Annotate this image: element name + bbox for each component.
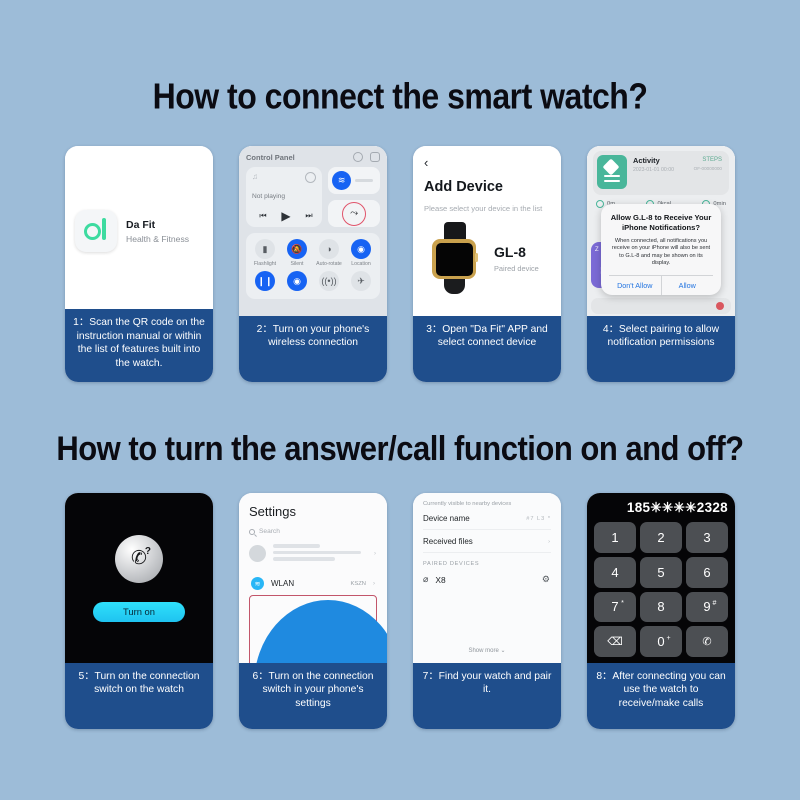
search-placeholder: Search xyxy=(259,528,280,535)
allow-button[interactable]: Allow xyxy=(662,276,714,295)
paired-device-row[interactable]: ⌀ X8 ⚙ xyxy=(423,570,551,589)
toggle-hotspot[interactable]: ((•)) xyxy=(314,271,344,293)
dont-allow-button[interactable]: Don't Allow xyxy=(609,276,662,295)
activity-icon xyxy=(597,155,627,189)
page-title-answer-call: How to turn the answer/call function on … xyxy=(0,429,800,469)
dafit-logo-icon xyxy=(75,210,117,252)
key-6[interactable]: 6 xyxy=(686,557,728,588)
add-device-title: Add Device xyxy=(424,179,550,195)
media-player-tile[interactable]: ♫ Not playing ⏮ ▶ ⏭ xyxy=(246,167,322,227)
device-name: GL-8 xyxy=(494,244,539,260)
paired-devices-header: PAIRED DEVICES xyxy=(423,561,551,567)
screenshot-bluetooth-list: Currently visible to nearby devices Devi… xyxy=(413,493,561,663)
step-card-5: ✆? Turn on 5：Turn on the connection swit… xyxy=(65,493,213,729)
step-card-1: Da Fit Health & Fitness 1：Scan the QR co… xyxy=(65,146,213,382)
toggle-eyecare[interactable]: ◉ xyxy=(282,271,312,293)
row-label: Device name xyxy=(423,514,470,523)
turn-on-button[interactable]: Turn on xyxy=(93,602,185,622)
chevron-right-icon: › xyxy=(548,539,551,545)
key-2[interactable]: 2 xyxy=(640,522,682,553)
step-caption-2: 2：Turn on your phone's wireless connecti… xyxy=(239,316,387,382)
search-input[interactable]: Search xyxy=(249,528,377,535)
key-3[interactable]: 3 xyxy=(686,522,728,553)
settings-row-wireless[interactable]: ✦ wireless On › xyxy=(249,595,377,664)
row-value: #7 L3 * xyxy=(526,516,551,522)
key-1[interactable]: 1 xyxy=(594,522,636,553)
step-card-6: Settings Search › ≋ WLAN KS xyxy=(239,493,387,729)
key-0[interactable]: 0+ xyxy=(640,626,682,657)
bt-row-received-files[interactable]: Received files › xyxy=(423,530,551,553)
bt-row-device-name[interactable]: Device name #7 L3 * xyxy=(423,507,551,530)
settings-gear-icon[interactable] xyxy=(353,152,363,162)
toggle-silent[interactable]: 🔕 Silent xyxy=(282,239,312,267)
step-card-7: Currently visible to nearby devices Devi… xyxy=(413,493,561,729)
toggle-sound[interactable]: ❙❙ xyxy=(250,271,280,293)
key-7[interactable]: 7* xyxy=(594,592,636,623)
activity-card: Activity 2023-01-01 00:00 STEPS OF-00000… xyxy=(593,151,729,195)
permission-dialog: Allow G.L-8 to Receive Your iPhone Notif… xyxy=(601,204,721,295)
screenshot-watch-enable: ✆? Turn on xyxy=(65,493,213,663)
screenshot-control-panel: Control Panel ♫ Not playing ⏮ xyxy=(239,146,387,316)
play-icon[interactable]: ▶ xyxy=(281,209,290,223)
avatar xyxy=(249,545,266,562)
autorotate-icon: ◑ xyxy=(319,239,339,259)
dialog-title: Allow G.L-8 to Receive Your iPhone Notif… xyxy=(609,213,713,233)
eye-icon: ◉ xyxy=(287,271,307,291)
key-8[interactable]: 8 xyxy=(640,592,682,623)
media-status: Not playing xyxy=(252,193,285,200)
call-key[interactable]: ✆ xyxy=(686,626,728,657)
steps-row-connect: Da Fit Health & Fitness 1：Scan the QR co… xyxy=(0,146,800,382)
show-more-button[interactable]: Show more ⌄ xyxy=(423,647,551,663)
wifi-tile[interactable]: ≋ xyxy=(328,167,380,194)
add-device-subtitle: Please select your device in the list xyxy=(424,204,550,213)
quick-toggles: ▮ Flashlight 🔕 Silent ◑ Auto-rotate xyxy=(246,233,380,299)
screenshot-ios-permission: Activity 2023-01-01 00:00 STEPS OF-00000… xyxy=(587,146,735,316)
flashlight-icon: ▮ xyxy=(255,239,275,259)
row-label: Received files xyxy=(423,537,473,546)
steps-row-call: ✆? Turn on 5：Turn on the connection swit… xyxy=(0,493,800,729)
dialed-number: 185✳✳✳✳2328 xyxy=(594,500,728,516)
app-category: Health & Fitness xyxy=(126,234,189,244)
step-caption-3: 3：Open "Da Fit" APP and select connect d… xyxy=(413,316,561,382)
step-caption-1: 1：Scan the QR code on the instruction ma… xyxy=(65,309,213,382)
screenshot-android-settings: Settings Search › ≋ WLAN KS xyxy=(239,493,387,663)
step-card-8: 185✳✳✳✳2328 1 2 3 4 5 6 7* 8 9# ⌫ 0+ ✆ xyxy=(587,493,735,729)
steps-label: STEPS xyxy=(702,157,722,163)
gear-icon[interactable]: ⚙ xyxy=(542,574,550,585)
step-card-2: Control Panel ♫ Not playing ⏮ xyxy=(239,146,387,382)
bluetooth-icon: ✦ xyxy=(254,600,387,663)
back-arrow-icon[interactable]: ‹ xyxy=(424,156,550,169)
highlight-ring xyxy=(342,202,366,226)
tutorial-page: How to connect the smart watch? Da Fit H… xyxy=(0,0,800,800)
wifi-icon: ≋ xyxy=(251,577,264,590)
settings-title: Settings xyxy=(249,504,377,519)
prev-icon[interactable]: ⏮ xyxy=(259,211,266,221)
toggle-airplane[interactable]: ✈ xyxy=(346,271,376,293)
step-card-4: Activity 2023-01-01 00:00 STEPS OF-00000… xyxy=(587,146,735,382)
device-list-item[interactable]: GL-8 Paired device xyxy=(424,222,550,294)
control-panel-title: Control Panel xyxy=(246,153,295,162)
key-4[interactable]: 4 xyxy=(594,557,636,588)
step-caption-4: 4：Select pairing to allow notification p… xyxy=(587,316,735,382)
settings-row-wlan[interactable]: ≋ WLAN KSZN › xyxy=(249,573,377,595)
wifi-icon: ≋ xyxy=(332,171,351,190)
screenshot-watch-dialer: 185✳✳✳✳2328 1 2 3 4 5 6 7* 8 9# ⌫ 0+ ✆ xyxy=(587,493,735,663)
equalizer-icon: ❙❙ xyxy=(255,271,275,291)
dial-keypad: 1 2 3 4 5 6 7* 8 9# ⌫ 0+ ✆ xyxy=(594,522,728,657)
device-status: Paired device xyxy=(494,264,539,273)
screenshot-dafit-app: Da Fit Health & Fitness xyxy=(65,146,213,309)
phone-question-icon: ✆? xyxy=(115,535,163,583)
bell-off-icon: 🔕 xyxy=(287,239,307,259)
cast-icon[interactable] xyxy=(305,172,316,183)
smartwatch-image xyxy=(424,222,486,294)
location-pin-icon: ◉ xyxy=(351,239,371,259)
next-icon[interactable]: ⏭ xyxy=(305,211,312,221)
account-blurred-text xyxy=(273,544,377,564)
bluetooth-share-tile[interactable]: ⤳ xyxy=(328,200,380,227)
app-name: Da Fit xyxy=(126,219,189,231)
device-name: X8 xyxy=(435,575,445,585)
airplane-icon: ✈ xyxy=(351,271,371,291)
toggle-location[interactable]: ◉ Location xyxy=(346,239,376,267)
row-label: WLAN xyxy=(271,579,294,588)
dialog-body: When connected, all notifications you re… xyxy=(609,238,713,275)
toggle-autorotate[interactable]: ◑ Auto-rotate xyxy=(314,239,344,267)
device-mac: OF-00000000 xyxy=(694,166,722,171)
page-title-connect: How to connect the smart watch? xyxy=(0,76,800,117)
account-row[interactable]: › xyxy=(249,544,377,564)
screenshot-add-device: ‹ Add Device Please select your device i… xyxy=(413,146,561,316)
search-icon xyxy=(249,529,255,535)
chevron-right-icon: › xyxy=(373,581,375,587)
headphones-icon: ⌀ xyxy=(423,574,428,585)
chevron-right-icon: › xyxy=(374,551,376,557)
step-caption-5: 5：Turn on the connection switch on the w… xyxy=(65,663,213,729)
step-caption-7: 7：Find your watch and pair it. xyxy=(413,663,561,729)
expand-icon[interactable] xyxy=(370,152,380,162)
step-card-3: ‹ Add Device Please select your device i… xyxy=(413,146,561,382)
key-9[interactable]: 9# xyxy=(686,592,728,623)
heart-card xyxy=(591,298,731,314)
key-5[interactable]: 5 xyxy=(640,557,682,588)
backspace-key[interactable]: ⌫ xyxy=(594,626,636,657)
hotspot-icon: ((•)) xyxy=(319,271,339,291)
step-caption-8: 8：After connecting you can use the watch… xyxy=(587,663,735,729)
toggle-flashlight[interactable]: ▮ Flashlight xyxy=(250,239,280,267)
row-value: KSZN xyxy=(351,581,366,587)
step-caption-6: 6：Turn on the connection switch in your … xyxy=(239,663,387,729)
